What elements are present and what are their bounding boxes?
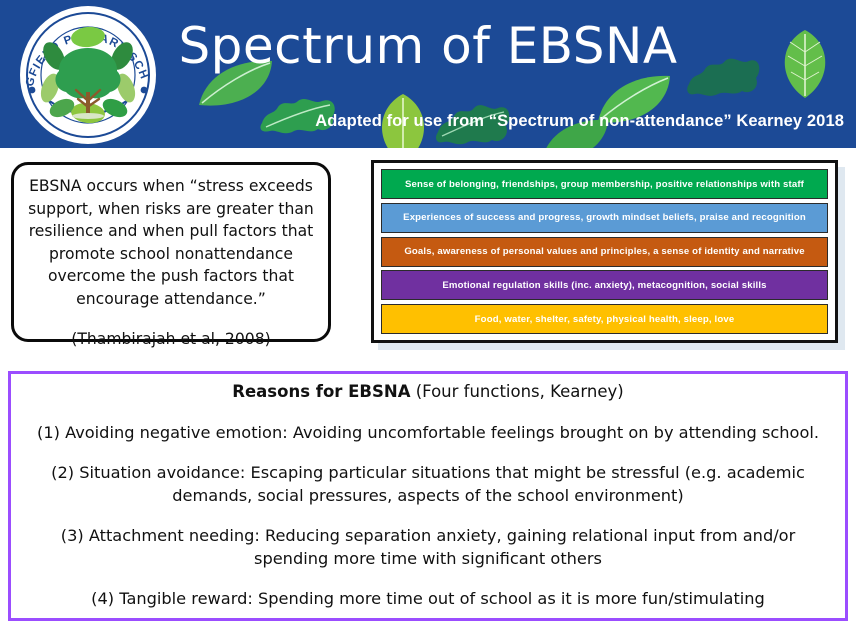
ebsna-definition-box: EBSNA occurs when “stress exceeds suppor… [11,162,331,342]
header-subtitle: Adapted for use from “Spectrum of non-at… [315,112,844,131]
reason-item: (2) Situation avoidance: Escaping partic… [21,461,835,507]
layer-bar-label: Sense of belonging, friendships, group m… [405,179,804,190]
lingfield-primary-school-logo: LINGFIELD PRIMARY SCHOOL [14,4,162,146]
page-header: LINGFIELD PRIMARY SCHOOL Spectrum of EBS… [0,0,856,148]
layer-bar: Emotional regulation skills (inc. anxiet… [381,270,828,300]
layer-bar: Sense of belonging, friendships, group m… [381,169,828,199]
reasons-heading: Reasons for EBSNA (Four functions, Kearn… [21,380,835,404]
layer-bar-label: Goals, awareness of personal values and … [404,246,804,257]
ebsna-definition-citation: (Thambirajah et al, 2008) [28,330,314,348]
reason-item: (4) Tangible reward: Spending more time … [21,587,835,610]
reasons-for-ebsna-box: Reasons for EBSNA (Four functions, Kearn… [8,371,848,621]
layer-bar: Goals, awareness of personal values and … [381,237,828,267]
reasons-heading-bold: Reasons for EBSNA [232,382,410,401]
needs-layers-box: Sense of belonging, friendships, group m… [371,160,838,343]
ebsna-definition-text: EBSNA occurs when “stress exceeds suppor… [28,175,314,310]
layer-bar: Experiences of success and progress, gro… [381,203,828,233]
reason-item: (1) Avoiding negative emotion: Avoiding … [21,421,835,444]
layer-bar-label: Experiences of success and progress, gro… [403,212,806,223]
layer-bar: Food, water, shelter, safety, physical h… [381,304,828,334]
reasons-heading-rest: (Four functions, Kearney) [410,382,623,401]
layer-bar-label: Food, water, shelter, safety, physical h… [475,314,735,325]
layer-bar-label: Emotional regulation skills (inc. anxiet… [442,280,766,291]
reason-item: (3) Attachment needing: Reducing separat… [21,524,835,570]
